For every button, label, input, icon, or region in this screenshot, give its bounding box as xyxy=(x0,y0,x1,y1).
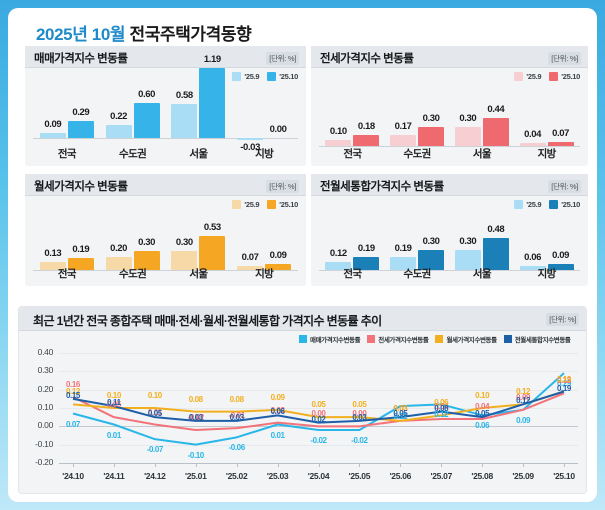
trend-data-label: 0.12 xyxy=(506,396,540,405)
trend-legend-label: 전월세통합지수변동률 xyxy=(515,334,571,344)
legend-label: '25.9 xyxy=(244,200,259,209)
trend-legend-item: 월세가격지수변동률 xyxy=(435,334,496,344)
legend-label: '25.10 xyxy=(279,72,298,81)
panel-title: 전세가격지수 변동률 xyxy=(320,50,413,66)
trend-data-label: 0.03 xyxy=(342,413,376,422)
trend-data-label: 0.15 xyxy=(56,391,90,400)
trend-data-label: 0.05 xyxy=(383,409,417,418)
trend-legend-swatch-icon xyxy=(435,335,443,343)
trend-legend-item: 매매가격지수변동률 xyxy=(299,334,360,344)
trend-legend-swatch-icon xyxy=(299,335,307,343)
legend-item-curr: '25.10 xyxy=(267,72,298,81)
bar-value-label: 0.07 xyxy=(539,128,583,139)
bar-curr xyxy=(418,127,444,146)
category-label: 지방 xyxy=(229,266,299,281)
trend-legend-swatch-icon xyxy=(504,335,512,343)
trend-chart-area: 0.400.300.200.100.00-0.10-0.20'24.10'24.… xyxy=(19,345,588,495)
trend-data-label: 0.08 xyxy=(424,404,458,413)
trend-data-label: 0.01 xyxy=(261,431,295,440)
trend-data-label: 0.06 xyxy=(465,421,499,430)
trend-data-label: 0.09 xyxy=(506,416,540,425)
trend-data-label: 0.06 xyxy=(261,407,295,416)
legend-label: '25.10 xyxy=(561,72,580,81)
trend-data-label: -0.02 xyxy=(342,436,376,445)
category-label: 수도권 xyxy=(382,146,452,161)
trend-data-label: -0.02 xyxy=(302,436,336,445)
panel-jeonse-price-index: 전세가격지수 변동률[단위: %]'25.9'25.100.100.18전국0.… xyxy=(311,46,588,166)
trend-data-label: 0.10 xyxy=(138,391,172,400)
panel-combined-price-index: 전월세통합가격지수 변동률[단위: %]'25.9'25.100.120.19전… xyxy=(311,174,588,286)
bar-prev xyxy=(237,138,263,140)
trend-unit-label: [단위: %] xyxy=(546,313,579,326)
bar-curr xyxy=(199,68,225,138)
bar-curr xyxy=(353,135,379,146)
category-label: 서울 xyxy=(447,146,517,161)
trend-data-label: 0.05 xyxy=(138,409,172,418)
trend-data-label: 0.03 xyxy=(220,413,254,422)
category-label: 전국 xyxy=(32,146,102,161)
trend-data-label: 0.03 xyxy=(179,413,213,422)
legend-swatch-icon xyxy=(267,72,276,81)
category-label: 전국 xyxy=(32,266,102,281)
legend-swatch-icon xyxy=(549,72,558,81)
legend-label: '25.10 xyxy=(561,200,580,209)
trend-legend-label: 매매가격지수변동률 xyxy=(310,334,360,344)
category-label: 수도권 xyxy=(98,266,168,281)
category-label: 지방 xyxy=(512,146,582,161)
bar-curr xyxy=(483,118,509,146)
category-label: 서울 xyxy=(163,146,233,161)
legend-item-prev: '25.9 xyxy=(514,72,541,81)
panel-unit-label: [단위: %] xyxy=(266,52,299,65)
trend-data-label: 0.09 xyxy=(261,393,295,402)
trend-data-label: -0.10 xyxy=(179,451,213,460)
category-label: 수도권 xyxy=(98,146,168,161)
panel-title: 전월세통합가격지수 변동률 xyxy=(320,178,444,194)
panel-unit-label: [단위: %] xyxy=(266,180,299,193)
category-label: 서울 xyxy=(447,266,517,281)
legend-item-prev: '25.9 xyxy=(232,72,259,81)
trend-data-label: 0.07 xyxy=(56,420,90,429)
panel-header: 매매가격지수 변동률[단위: %] xyxy=(25,46,306,68)
bar-value-label: 0.44 xyxy=(474,104,518,115)
legend-swatch-icon xyxy=(232,72,241,81)
bar-prev xyxy=(40,133,66,138)
legend-label: '25.9 xyxy=(244,72,259,81)
trend-data-label: -0.06 xyxy=(220,443,254,452)
trend-data-label: 0.05 xyxy=(302,400,336,409)
trend-data-label: 0.19 xyxy=(547,375,581,384)
bar-value-label: 0.09 xyxy=(539,250,583,261)
page-title-main: 전국주택가격동향 xyxy=(129,25,251,44)
category-label: 지방 xyxy=(229,146,299,161)
legend-item-curr: '25.10 xyxy=(267,200,298,209)
bar-value-label: 1.19 xyxy=(190,54,234,65)
panel-legend: '25.9'25.10 xyxy=(514,72,580,81)
trend-data-label: 0.11 xyxy=(97,398,131,407)
bar-curr xyxy=(199,236,225,270)
legend-swatch-icon xyxy=(267,200,276,209)
trend-data-label: 0.12 xyxy=(506,387,540,396)
trend-legend: 매매가격지수변동률전세가격지수변동률월세가격지수변동률전월세통합지수변동률 xyxy=(299,334,571,344)
panel-title: 월세가격지수 변동률 xyxy=(34,178,127,194)
bar-value-label: 0.00 xyxy=(256,124,300,135)
trend-data-label: 0.08 xyxy=(179,395,213,404)
legend-swatch-icon xyxy=(514,200,523,209)
legend-swatch-icon xyxy=(549,200,558,209)
bar-prev xyxy=(390,135,416,146)
bar-value-label: 0.53 xyxy=(190,222,234,233)
panel-title: 매매가격지수 변동률 xyxy=(34,50,127,66)
panel-legend: '25.9'25.10 xyxy=(232,72,298,81)
trend-data-label: 0.08 xyxy=(220,395,254,404)
bar-prev xyxy=(455,127,481,146)
legend-label: '25.10 xyxy=(279,200,298,209)
category-label: 전국 xyxy=(317,266,387,281)
trend-panel-title: 최근 1년간 전국 종합주택 매매·전세·월세·전월세통합 가격지수 변동률 추… xyxy=(33,312,382,329)
panel-wolse-price-index: 월세가격지수 변동률[단위: %]'25.9'25.100.130.19전국0.… xyxy=(25,174,306,286)
trend-data-label: 0.01 xyxy=(97,431,131,440)
panel-sale-price-index: 매매가격지수 변동률[단위: %]'25.9'25.100.090.29전국0.… xyxy=(25,46,306,166)
panel-header: 월세가격지수 변동률[단위: %] xyxy=(25,174,306,196)
legend-item-curr: '25.10 xyxy=(549,200,580,209)
trend-panel-header: 최근 1년간 전국 종합주택 매매·전세·월세·전월세통합 가격지수 변동률 추… xyxy=(19,307,586,331)
panel-header: 전월세통합가격지수 변동률[단위: %] xyxy=(311,174,588,196)
bar-value-label: 0.48 xyxy=(474,224,518,235)
trend-legend-item: 전세가격지수변동률 xyxy=(367,334,428,344)
category-label: 전국 xyxy=(317,146,387,161)
legend-item-prev: '25.9 xyxy=(514,200,541,209)
panel-legend: '25.9'25.10 xyxy=(232,200,298,209)
panel-legend: '25.9'25.10 xyxy=(514,200,580,209)
legend-item-curr: '25.10 xyxy=(549,72,580,81)
legend-label: '25.9 xyxy=(526,200,541,209)
bar-prev xyxy=(171,104,197,138)
trend-data-label: -0.07 xyxy=(138,445,172,454)
panel-header: 전세가격지수 변동률[단위: %] xyxy=(311,46,588,68)
bar-value-label: 0.09 xyxy=(256,250,300,261)
trend-legend-item: 전월세통합지수변동률 xyxy=(504,334,571,344)
bar-curr xyxy=(134,103,160,138)
trend-legend-label: 전세가격지수변동률 xyxy=(378,334,428,344)
trend-data-label: 0.05 xyxy=(465,409,499,418)
trend-data-label: 0.19 xyxy=(547,384,581,393)
page-title-date: 2025년 10월 xyxy=(36,25,125,44)
trend-legend-label: 월세가격지수변동률 xyxy=(446,334,496,344)
bar-curr xyxy=(68,121,94,138)
category-label: 지방 xyxy=(512,266,582,281)
dashboard-page: 2025년 10월 전국주택가격동향 매매가격지수 변동률[단위: %]'25.… xyxy=(8,8,597,502)
category-label: 수도권 xyxy=(382,266,452,281)
trend-data-label: 0.02 xyxy=(302,415,336,424)
panel-unit-label: [단위: %] xyxy=(548,180,581,193)
trend-data-label: 0.10 xyxy=(465,391,499,400)
legend-item-prev: '25.9 xyxy=(232,200,259,209)
page-title: 2025년 10월 전국주택가격동향 xyxy=(36,20,251,45)
legend-label: '25.9 xyxy=(526,72,541,81)
bar-prev xyxy=(106,125,132,138)
trend-legend-swatch-icon xyxy=(367,335,375,343)
legend-swatch-icon xyxy=(514,72,523,81)
trend-data-label: 0.05 xyxy=(342,400,376,409)
panel-unit-label: [단위: %] xyxy=(548,52,581,65)
category-label: 서울 xyxy=(163,266,233,281)
panel-yearly-trend: 최근 1년간 전국 종합주택 매매·전세·월세·전월세통합 가격지수 변동률 추… xyxy=(18,306,587,494)
legend-swatch-icon xyxy=(232,200,241,209)
